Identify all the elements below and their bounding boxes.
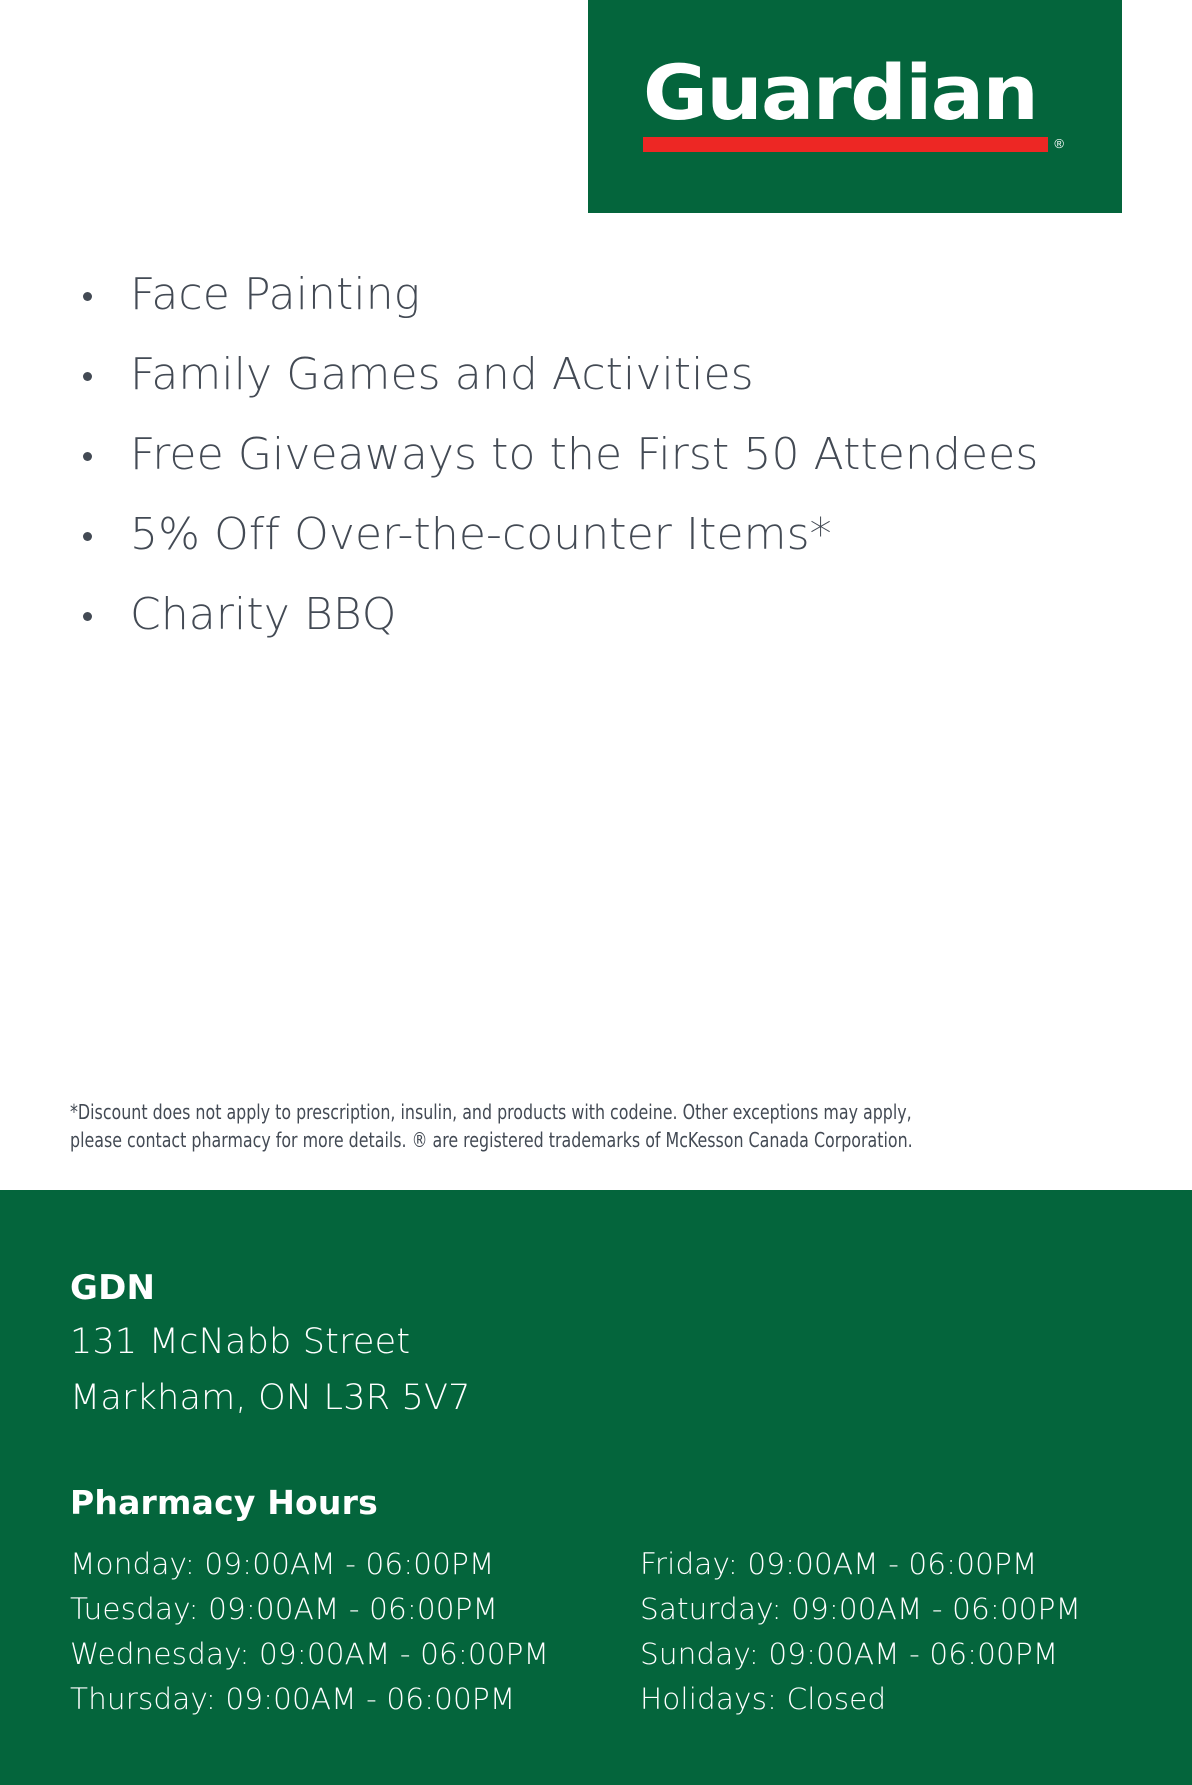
list-item: Face Painting [78, 255, 1178, 335]
hours-row: Wednesday: 09:00AM - 06:00PM [70, 1632, 640, 1677]
hours-row: Saturday: 09:00AM - 06:00PM [640, 1587, 1120, 1632]
list-item: Family Games and Activities [78, 335, 1178, 415]
disclaimer: *Discount does not apply to prescription… [70, 1098, 973, 1154]
logo-red-bar-icon [643, 137, 1048, 152]
hours-row: Sunday: 09:00AM - 06:00PM [640, 1632, 1120, 1677]
store-address-block: GDN 131 McNabb Street Markham, ON L3R 5V… [70, 1262, 471, 1426]
logo-rule-wrap: ® [643, 137, 1068, 152]
hours-row: Monday: 09:00AM - 06:00PM [70, 1542, 640, 1587]
list-item: 5% Off Over-the-counter Items* [78, 495, 1178, 575]
store-street: 131 McNabb Street [70, 1314, 471, 1370]
feature-label: Free Giveaways to the First 50 Attendees [78, 415, 1038, 495]
pharmacy-hours-title: Pharmacy Hours [70, 1481, 378, 1525]
hours-row: Holidays: Closed [640, 1677, 1120, 1722]
features-list: Face Painting Family Games and Activitie… [0, 255, 1178, 655]
guardian-wordmark: Guardian [643, 58, 1090, 128]
guardian-logo-panel: Guardian ® [588, 0, 1122, 213]
hours-row: Friday: 09:00AM - 06:00PM [640, 1542, 1120, 1587]
feature-label: Charity BBQ [78, 575, 397, 655]
hours-row: Tuesday: 09:00AM - 06:00PM [70, 1587, 640, 1632]
feature-label: Face Painting [78, 255, 420, 335]
hours-row: Thursday: 09:00AM - 06:00PM [70, 1677, 640, 1722]
hours-column-weekdays: Monday: 09:00AM - 06:00PM Tuesday: 09:00… [70, 1542, 640, 1722]
list-item: Free Giveaways to the First 50 Attendees [78, 415, 1178, 495]
store-name: GDN [70, 1262, 471, 1314]
disclaimer-line-2: please contact pharmacy for more details… [70, 1126, 973, 1154]
disclaimer-line-1: *Discount does not apply to prescription… [70, 1098, 973, 1126]
list-item: Charity BBQ [78, 575, 1178, 655]
store-footer: GDN 131 McNabb Street Markham, ON L3R 5V… [0, 1190, 1192, 1785]
store-city-postal: Markham, ON L3R 5V7 [70, 1370, 471, 1426]
feature-label: Family Games and Activities [78, 335, 754, 415]
header: Guardian ® [0, 0, 1192, 213]
pharmacy-hours-grid: Monday: 09:00AM - 06:00PM Tuesday: 09:00… [70, 1542, 1130, 1722]
hours-column-weekend: Friday: 09:00AM - 06:00PM Saturday: 09:0… [640, 1542, 1120, 1722]
logo-lockup: Guardian ® [643, 58, 1073, 152]
registered-trademark-icon: ® [1054, 136, 1064, 151]
feature-label: 5% Off Over-the-counter Items* [78, 495, 832, 575]
